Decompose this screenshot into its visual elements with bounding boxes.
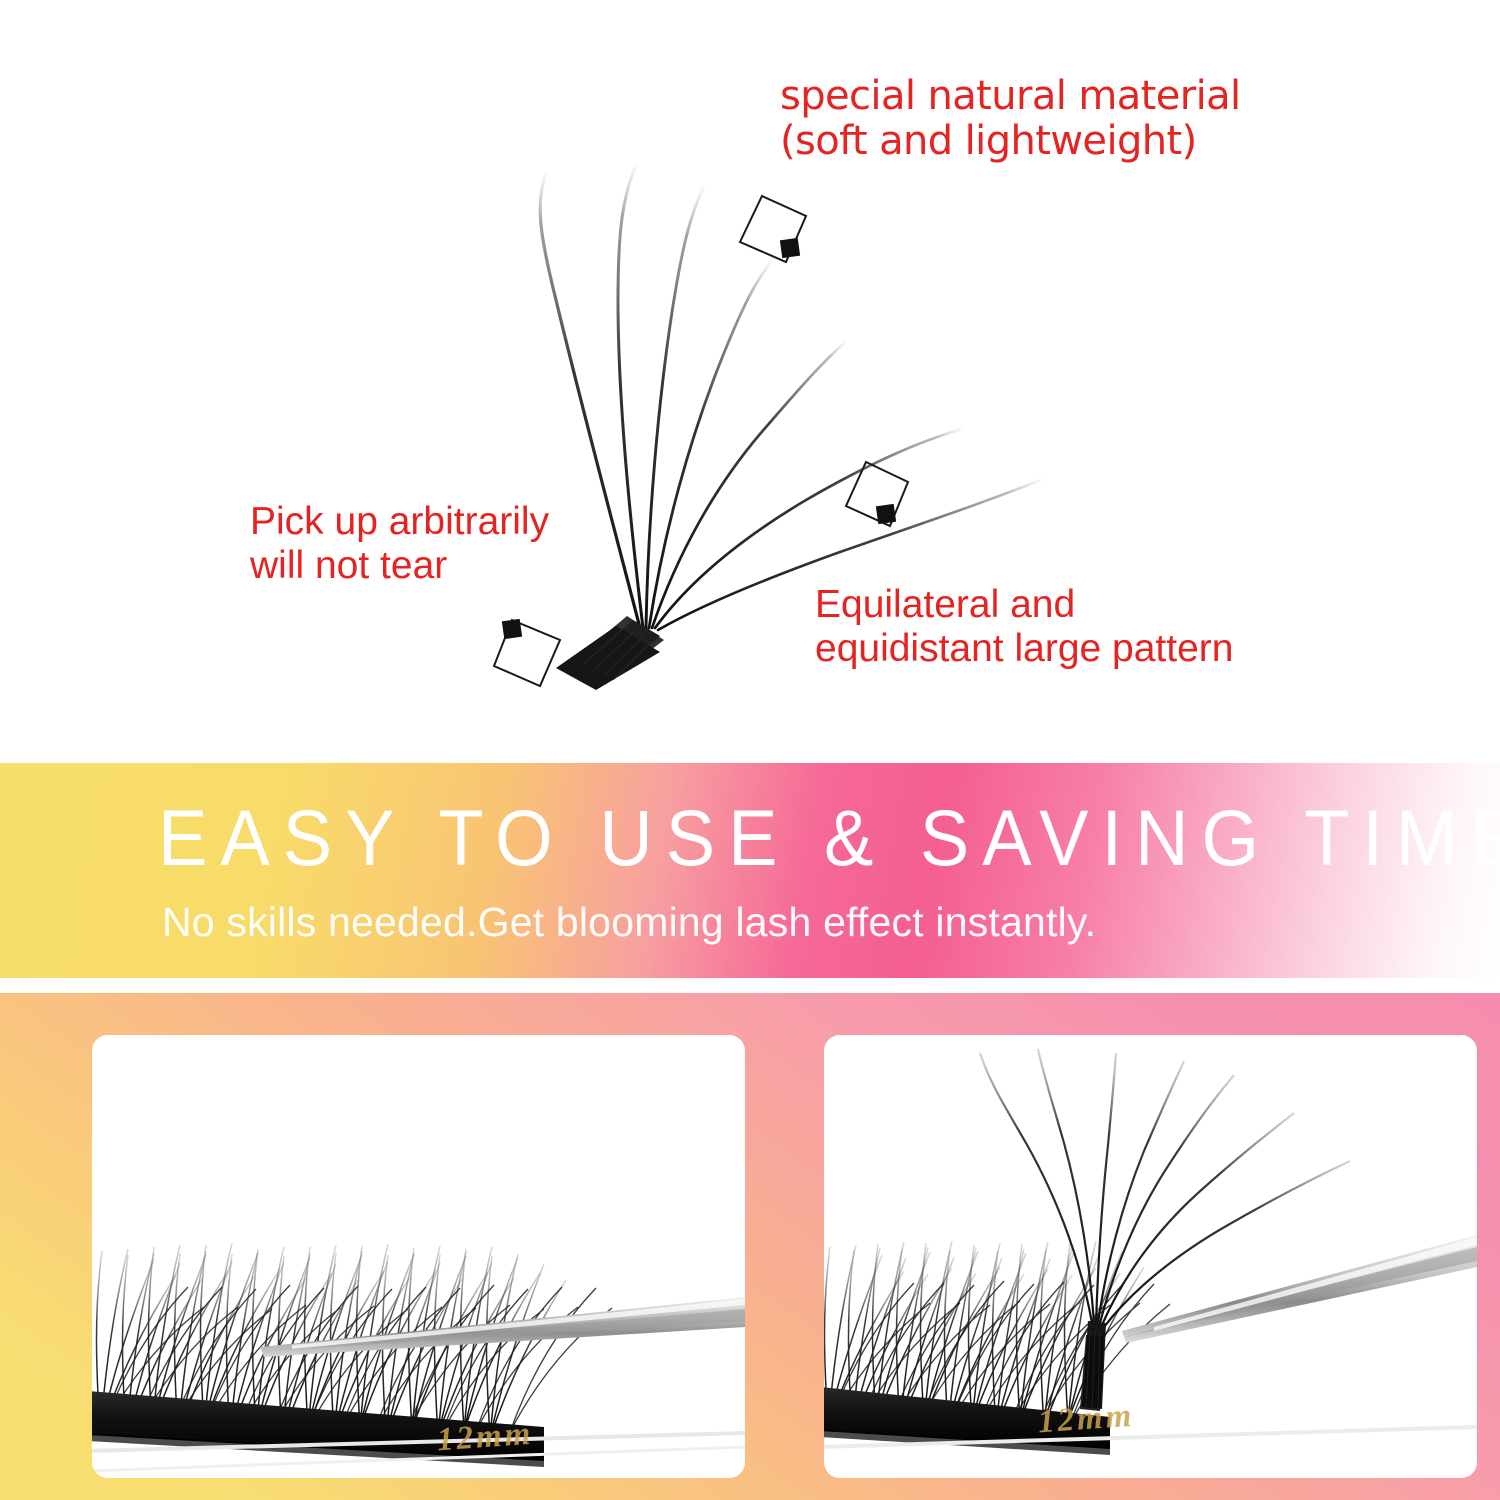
diagram-section: special natural material (soft and light… xyxy=(0,0,1500,763)
banner-section: EASY TO USE & SAVING TIME No skills need… xyxy=(0,763,1500,978)
photo-card-lash-fan: 12mm xyxy=(824,1035,1477,1478)
photos-section: 12mm xyxy=(0,993,1500,1500)
marker-dot-top xyxy=(780,238,800,258)
marker-square-right xyxy=(846,462,908,526)
callout-equilateral-equidistant: Equilateral and equidistant large patter… xyxy=(815,583,1335,670)
product-feature-image: special natural material (soft and light… xyxy=(0,0,1500,1500)
banner-subtitle: No skills needed.Get blooming lash effec… xyxy=(162,899,1096,946)
marker-dot-base xyxy=(502,619,522,639)
marker-dot-right xyxy=(876,504,896,524)
callout-pick-up-arbitrarily: Pick up arbitrarily will not tear xyxy=(250,500,610,587)
photo-lash-fan-lifted xyxy=(824,1035,1477,1478)
photo-card-lash-tray: 12mm xyxy=(92,1035,745,1478)
callout-special-natural-material: special natural material (soft and light… xyxy=(780,74,1250,164)
photo-lash-tray-tweezer xyxy=(92,1035,745,1478)
banner-headline: EASY TO USE & SAVING TIME xyxy=(158,793,1500,883)
lash-strands xyxy=(540,160,1046,630)
